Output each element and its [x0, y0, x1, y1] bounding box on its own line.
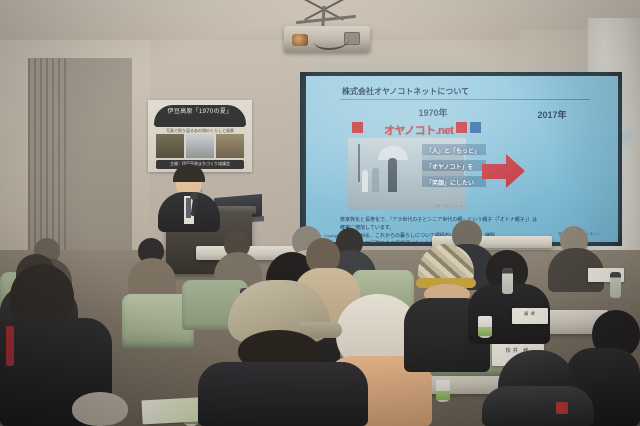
paper-cup-right-band	[478, 327, 492, 336]
photo-credit: 出典：オヤノコト.net	[434, 204, 463, 208]
photo-figure-adult	[388, 158, 397, 192]
arrow-body	[482, 164, 508, 179]
attendee-front-left-lanyard	[6, 326, 14, 366]
slide-logo: オヤノコト.net	[384, 122, 453, 138]
poster-photo-2	[186, 134, 214, 158]
attendee-far-right-body	[482, 386, 594, 426]
logo-badge-right-a	[456, 122, 467, 133]
name-card-back: 講 師	[512, 308, 548, 324]
thermos-bottle-right	[502, 268, 513, 294]
paper-cup-front-band	[436, 391, 450, 400]
seminar-room-photo: 伊豆高原「1970の夏」 写真で振り返るあの頃のくらしと風景 主催：伊豆高原まち…	[0, 0, 640, 426]
poster-heading: 伊豆高原「1970の夏」	[148, 106, 252, 115]
thermos-bottle-far	[610, 272, 621, 298]
photo-figure-child-a	[372, 168, 379, 192]
poster-photo-strip	[156, 134, 244, 158]
attendee-cap-body	[198, 362, 368, 426]
attendee-far-right-badge	[556, 402, 568, 414]
slide-title-rule	[340, 99, 590, 100]
poster-photo-3	[216, 134, 244, 158]
slide-year-left: 1970年	[378, 106, 488, 119]
name-card-back-label: 講 師	[512, 311, 548, 317]
attendee-front-grey-head	[72, 392, 128, 426]
paper-cup-right	[478, 316, 492, 338]
red-right-arrow-icon	[482, 154, 524, 188]
logo-badge-right-b	[470, 122, 481, 133]
overlay-line-3: 「笑顔」にしたい	[426, 178, 474, 187]
overlay-line-2: 「オヤノコト」を	[426, 162, 474, 171]
paper-cup-front	[436, 380, 450, 402]
poster-footer: 主催：伊豆高原まちづくり協議会	[148, 161, 252, 167]
slide-year-right: 2017年	[502, 108, 602, 121]
projection-screen: 株式会社オヤノコトネットについて 1970年 2017年 オヤノコト.net 出…	[306, 76, 618, 242]
overlay-line-1: 「人」と「もっと」	[426, 146, 480, 155]
photo-figure-child-b	[362, 170, 368, 192]
slide-title: 株式会社オヤノコトネットについて	[342, 86, 469, 97]
logo-badge-left	[352, 122, 363, 133]
microphone-head	[190, 192, 198, 200]
wall-poster: 伊豆高原「1970の夏」 写真で振り返るあの頃のくらしと風景 主催：伊豆高原まち…	[148, 100, 252, 172]
poster-photo-1	[156, 134, 184, 158]
projector-lens	[292, 34, 308, 46]
arrow-head	[506, 154, 525, 188]
photo-utility-pole	[358, 144, 360, 182]
